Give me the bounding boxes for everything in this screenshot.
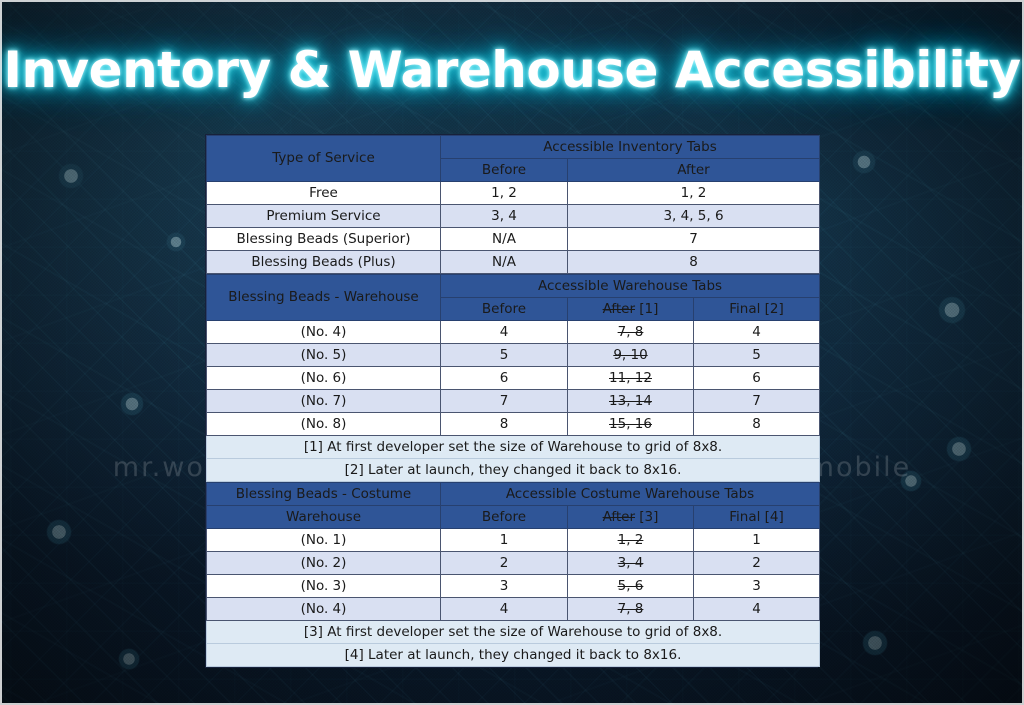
table-row: (No. 8) 8 15, 16 8 (207, 413, 820, 436)
costume-col-after-struck: After (603, 509, 635, 525)
cell-before: 4 (441, 321, 568, 344)
table-row: (No. 1) 1 1, 2 1 (207, 529, 820, 552)
page-title: Inventory & Warehouse Accessibility (0, 41, 1024, 99)
warehouse-table: Blessing Beads - Warehouse Accessible Wa… (206, 274, 820, 482)
cell-after: 13, 14 (568, 390, 694, 413)
cell-final: 4 (694, 598, 820, 621)
table-row: Blessing Beads (Superior) N/A 7 (207, 228, 820, 251)
table-row: (No. 7) 7 13, 14 7 (207, 390, 820, 413)
costume-col-before: Before (441, 506, 568, 529)
inventory-table: Type of Service Accessible Inventory Tab… (206, 135, 820, 274)
cell-after: 5, 6 (568, 575, 694, 598)
costume-group-header: Accessible Costume Warehouse Tabs (441, 483, 820, 506)
cell-final: 4 (694, 321, 820, 344)
costume-col-after-ref: [3] (635, 509, 658, 525)
inventory-group-header: Accessible Inventory Tabs (441, 136, 820, 159)
cell-after: 1, 2 (568, 182, 820, 205)
table-row: (No. 3) 3 5, 6 3 (207, 575, 820, 598)
cell-before: 3 (441, 575, 568, 598)
cell-after: 7, 8 (568, 321, 694, 344)
table-subheader-row: Warehouse Before After [3] Final [4] (207, 506, 820, 529)
cell-after: 11, 12 (568, 367, 694, 390)
warehouse-col-before: Before (441, 298, 568, 321)
table-row: (No. 5) 5 9, 10 5 (207, 344, 820, 367)
row-label: (No. 8) (207, 413, 441, 436)
row-label: (No. 4) (207, 321, 441, 344)
row-label: Blessing Beads (Plus) (207, 251, 441, 274)
inventory-col-before: Before (441, 159, 568, 182)
footnote-row: [4] Later at launch, they changed it bac… (207, 644, 820, 667)
cell-after: 15, 16 (568, 413, 694, 436)
cell-before: 4 (441, 598, 568, 621)
cell-final: 5 (694, 344, 820, 367)
cell-before: N/A (441, 228, 568, 251)
row-label: (No. 5) (207, 344, 441, 367)
cell-after: 1, 2 (568, 529, 694, 552)
table-row: (No. 6) 6 11, 12 6 (207, 367, 820, 390)
row-label: (No. 1) (207, 529, 441, 552)
row-label: (No. 3) (207, 575, 441, 598)
cell-after: 3, 4, 5, 6 (568, 205, 820, 228)
warehouse-col-final: Final [2] (694, 298, 820, 321)
cell-before: 8 (441, 413, 568, 436)
row-label: Premium Service (207, 205, 441, 228)
cell-after: 7, 8 (568, 598, 694, 621)
cell-before: 6 (441, 367, 568, 390)
cell-before: 2 (441, 552, 568, 575)
costume-col-final: Final [4] (694, 506, 820, 529)
cell-before: 3, 4 (441, 205, 568, 228)
cell-before: N/A (441, 251, 568, 274)
cell-after: 7 (568, 228, 820, 251)
row-label: (No. 6) (207, 367, 441, 390)
cell-final: 6 (694, 367, 820, 390)
costume-footnote-3: [3] At first developer set the size of W… (207, 621, 820, 644)
costume-col-after: After [3] (568, 506, 694, 529)
cell-final: 3 (694, 575, 820, 598)
row-label: (No. 7) (207, 390, 441, 413)
table-row: Free 1, 2 1, 2 (207, 182, 820, 205)
row-label: Blessing Beads (Superior) (207, 228, 441, 251)
cell-final: 8 (694, 413, 820, 436)
cell-before: 5 (441, 344, 568, 367)
tables-container: Type of Service Accessible Inventory Tab… (205, 134, 818, 668)
costume-row-header-line1: Blessing Beads - Costume (207, 483, 441, 506)
table-row: (No. 4) 4 7, 8 4 (207, 598, 820, 621)
table-header-row: Blessing Beads - Costume Accessible Cost… (207, 483, 820, 506)
warehouse-footnote-1: [1] At first developer set the size of W… (207, 436, 820, 459)
cell-final: 1 (694, 529, 820, 552)
slide-canvas: mw mr.wormy . ultimate source of cabal &… (0, 0, 1024, 705)
costume-warehouse-table: Blessing Beads - Costume Accessible Cost… (206, 482, 820, 667)
footnote-row: [2] Later at launch, they changed it bac… (207, 459, 820, 482)
footnote-row: [1] At first developer set the size of W… (207, 436, 820, 459)
costume-row-header-line2: Warehouse (207, 506, 441, 529)
inventory-row-header: Type of Service (207, 136, 441, 182)
cell-before: 1 (441, 529, 568, 552)
table-row: Blessing Beads (Plus) N/A 8 (207, 251, 820, 274)
warehouse-col-after-struck: After (603, 301, 635, 317)
table-row: (No. 2) 2 3, 4 2 (207, 552, 820, 575)
footnote-row: [3] At first developer set the size of W… (207, 621, 820, 644)
cell-final: 2 (694, 552, 820, 575)
table-header-row: Blessing Beads - Warehouse Accessible Wa… (207, 275, 820, 298)
cell-before: 7 (441, 390, 568, 413)
table-header-row: Type of Service Accessible Inventory Tab… (207, 136, 820, 159)
costume-footnote-4: [4] Later at launch, they changed it bac… (207, 644, 820, 667)
cell-after: 3, 4 (568, 552, 694, 575)
row-label: Free (207, 182, 441, 205)
cell-before: 1, 2 (441, 182, 568, 205)
warehouse-footnote-2: [2] Later at launch, they changed it bac… (207, 459, 820, 482)
warehouse-col-after: After [1] (568, 298, 694, 321)
row-label: (No. 2) (207, 552, 441, 575)
warehouse-row-header: Blessing Beads - Warehouse (207, 275, 441, 321)
row-label: (No. 4) (207, 598, 441, 621)
inventory-col-after: After (568, 159, 820, 182)
table-row: (No. 4) 4 7, 8 4 (207, 321, 820, 344)
warehouse-col-after-ref: [1] (635, 301, 658, 317)
cell-after: 9, 10 (568, 344, 694, 367)
cell-after: 8 (568, 251, 820, 274)
warehouse-group-header: Accessible Warehouse Tabs (441, 275, 820, 298)
table-row: Premium Service 3, 4 3, 4, 5, 6 (207, 205, 820, 228)
cell-final: 7 (694, 390, 820, 413)
